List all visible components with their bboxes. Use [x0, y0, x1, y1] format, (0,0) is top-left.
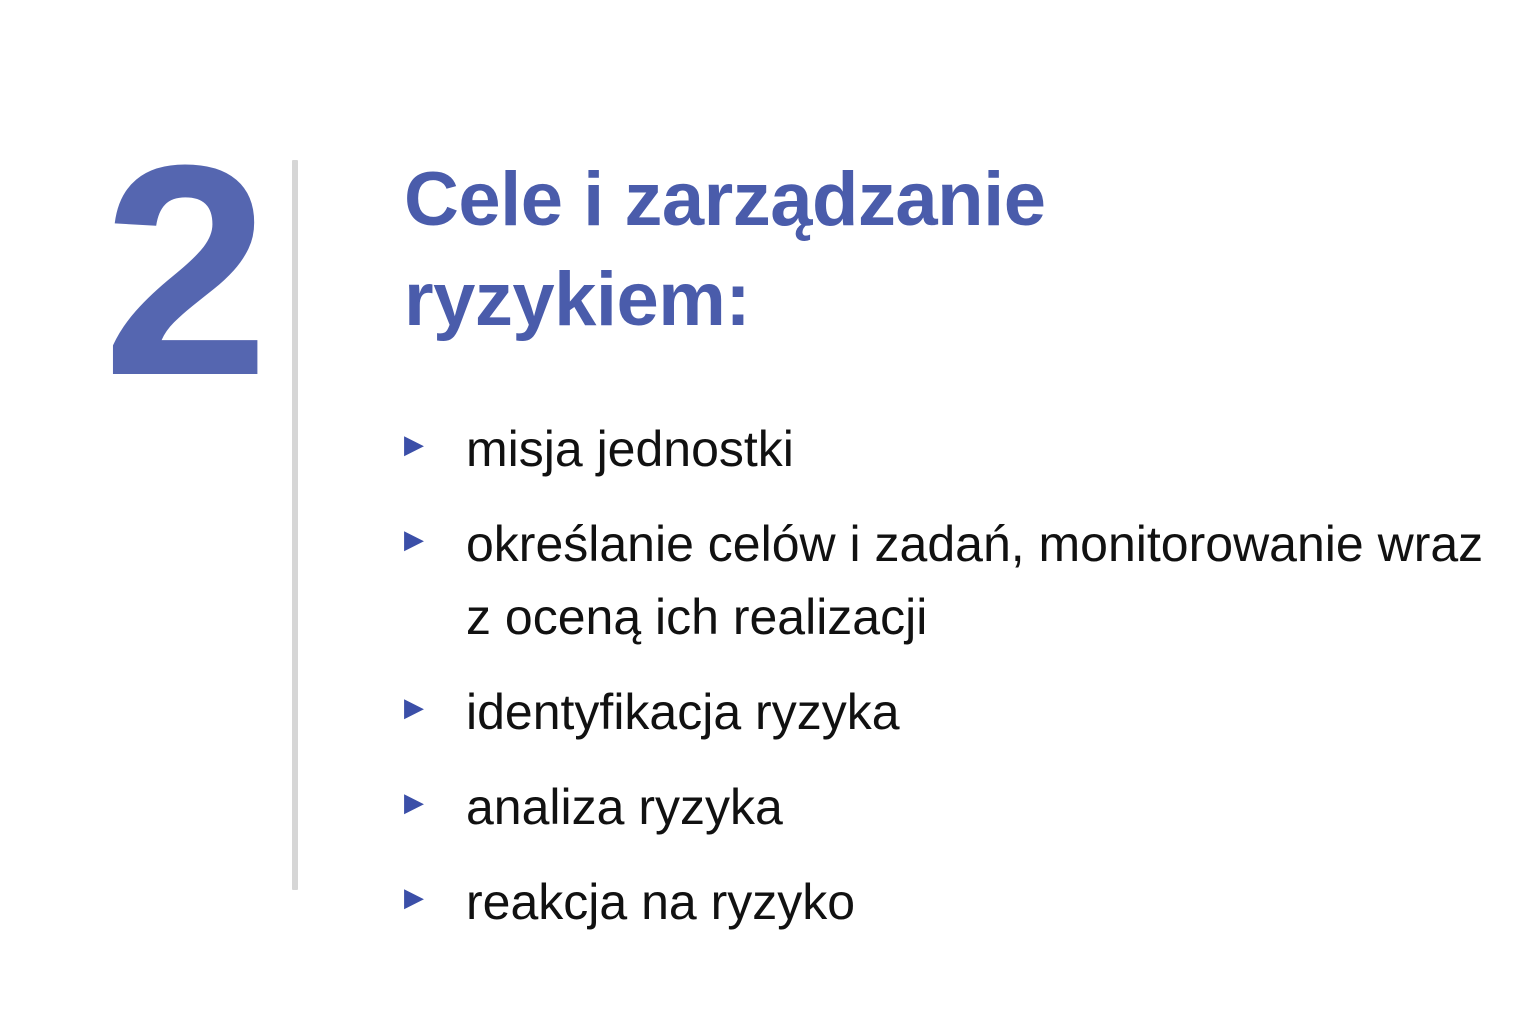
list-item-label: misja jednostki	[466, 413, 1496, 486]
triangle-bullet-icon: ▶	[404, 866, 466, 910]
list-item: ▶ misja jednostki	[404, 413, 1504, 486]
page-title: Cele i zarządzanie ryzykiem:	[404, 150, 1194, 351]
bullet-list: ▶ misja jednostki ▶ określanie celów i z…	[404, 413, 1504, 939]
triangle-bullet-icon: ▶	[404, 413, 466, 457]
list-item-label: reakcja na ryzyko	[466, 866, 1496, 939]
triangle-bullet-icon: ▶	[404, 676, 466, 720]
triangle-bullet-icon: ▶	[404, 508, 466, 552]
triangle-bullet-icon: ▶	[404, 771, 466, 815]
vertical-divider	[292, 160, 298, 890]
list-item: ▶ określanie celów i zadań, monitorowani…	[404, 508, 1504, 654]
list-item: ▶ reakcja na ryzyko	[404, 866, 1504, 939]
list-item: ▶ analiza ryzyka	[404, 771, 1504, 844]
list-item-label: określanie celów i zadań, monitorowanie …	[466, 508, 1496, 654]
list-item-label: analiza ryzyka	[466, 771, 1496, 844]
content-column: Cele i zarządzanie ryzykiem: ▶ misja jed…	[404, 150, 1504, 939]
list-item-label: identyfikacja ryzyka	[466, 676, 1496, 749]
slide-canvas: 2 Cele i zarządzanie ryzykiem: ▶ misja j…	[0, 0, 1536, 1024]
list-item: ▶ identyfikacja ryzyka	[404, 676, 1504, 749]
step-number: 2	[88, 140, 278, 400]
